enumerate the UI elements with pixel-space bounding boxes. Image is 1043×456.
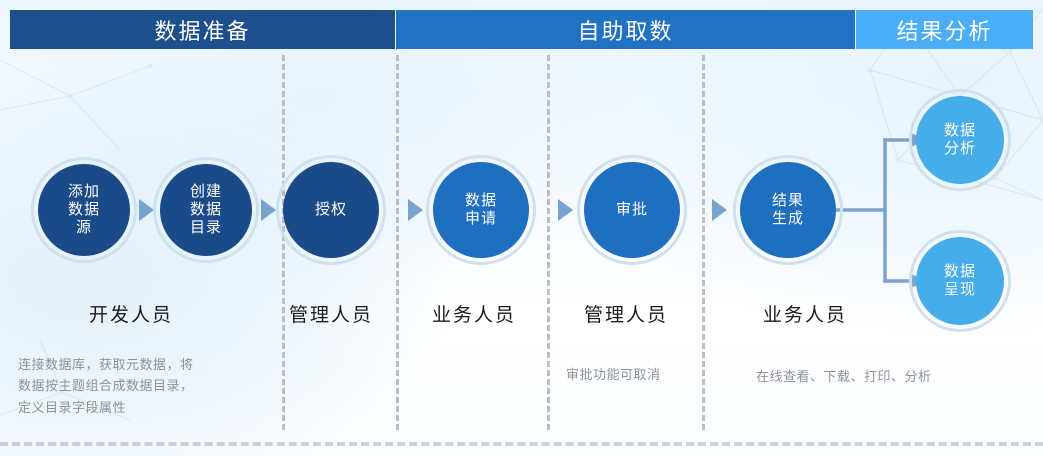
divider-1 <box>282 55 285 430</box>
phase-data-preparation[interactable]: 数据准备 <box>10 10 395 49</box>
node-authorize[interactable]: 授权 <box>283 162 379 258</box>
role-administrator-2: 管理人员 <box>584 300 668 327</box>
node-create-catalog-label: 创建 数据 目录 <box>186 183 226 236</box>
arrow-authorize-to-request-icon <box>408 199 423 221</box>
node-create-catalog[interactable]: 创建 数据 目录 <box>160 164 252 256</box>
role-administrator-1: 管理人员 <box>289 300 373 327</box>
node-data-analysis-label: 数据 分析 <box>940 122 980 157</box>
desc-approval: 审批功能可取消 <box>566 364 696 385</box>
node-approval[interactable]: 审批 <box>584 162 680 258</box>
role-business-1: 业务人员 <box>432 300 516 327</box>
node-data-request-label: 数据 申请 <box>461 192 501 227</box>
arrow-add-to-create-icon <box>139 199 154 221</box>
role-business-2: 业务人员 <box>763 300 847 327</box>
node-add-data-source-label: 添加 数据 源 <box>64 183 104 236</box>
workflow-diagram: 数据准备自助取数结果分析 添加 数据 源创建 数据 目录授权数据 申请审批结果 … <box>0 0 1043 456</box>
desc-data-preparation: 连接数据库，获取元数据，将 数据按主题组合成数据目录， 定义目录字段属性 <box>18 354 268 418</box>
divider-3 <box>547 55 550 430</box>
node-approval-label: 审批 <box>612 201 652 219</box>
phase-result-analysis-label: 结果分析 <box>896 14 992 46</box>
node-add-data-source[interactable]: 添加 数据 源 <box>38 164 130 256</box>
divider-2 <box>396 55 399 430</box>
phase-result-analysis[interactable]: 结果分析 <box>856 10 1033 49</box>
divider-4 <box>702 55 705 430</box>
node-data-presentation[interactable]: 数据 呈现 <box>916 237 1004 325</box>
desc-result: 在线查看、下载、打印、分析 <box>756 366 986 387</box>
phase-self-service-fetch-label: 自助取数 <box>577 14 673 46</box>
node-data-request[interactable]: 数据 申请 <box>433 162 529 258</box>
phase-self-service-fetch[interactable]: 自助取数 <box>396 10 855 49</box>
node-data-analysis[interactable]: 数据 分析 <box>916 96 1004 184</box>
node-result-generation[interactable]: 结果 生成 <box>740 162 836 258</box>
node-authorize-label: 授权 <box>311 201 351 219</box>
role-developer: 开发人员 <box>89 300 173 327</box>
arrow-request-to-approval-icon <box>558 199 573 221</box>
arrow-create-to-authorize-icon <box>261 199 276 221</box>
phase-data-preparation-label: 数据准备 <box>154 14 250 46</box>
bottom-dashed-rule <box>0 442 1043 446</box>
node-result-generation-label: 结果 生成 <box>768 192 808 227</box>
node-data-presentation-label: 数据 呈现 <box>940 263 980 298</box>
arrow-approval-to-result-icon <box>712 199 727 221</box>
